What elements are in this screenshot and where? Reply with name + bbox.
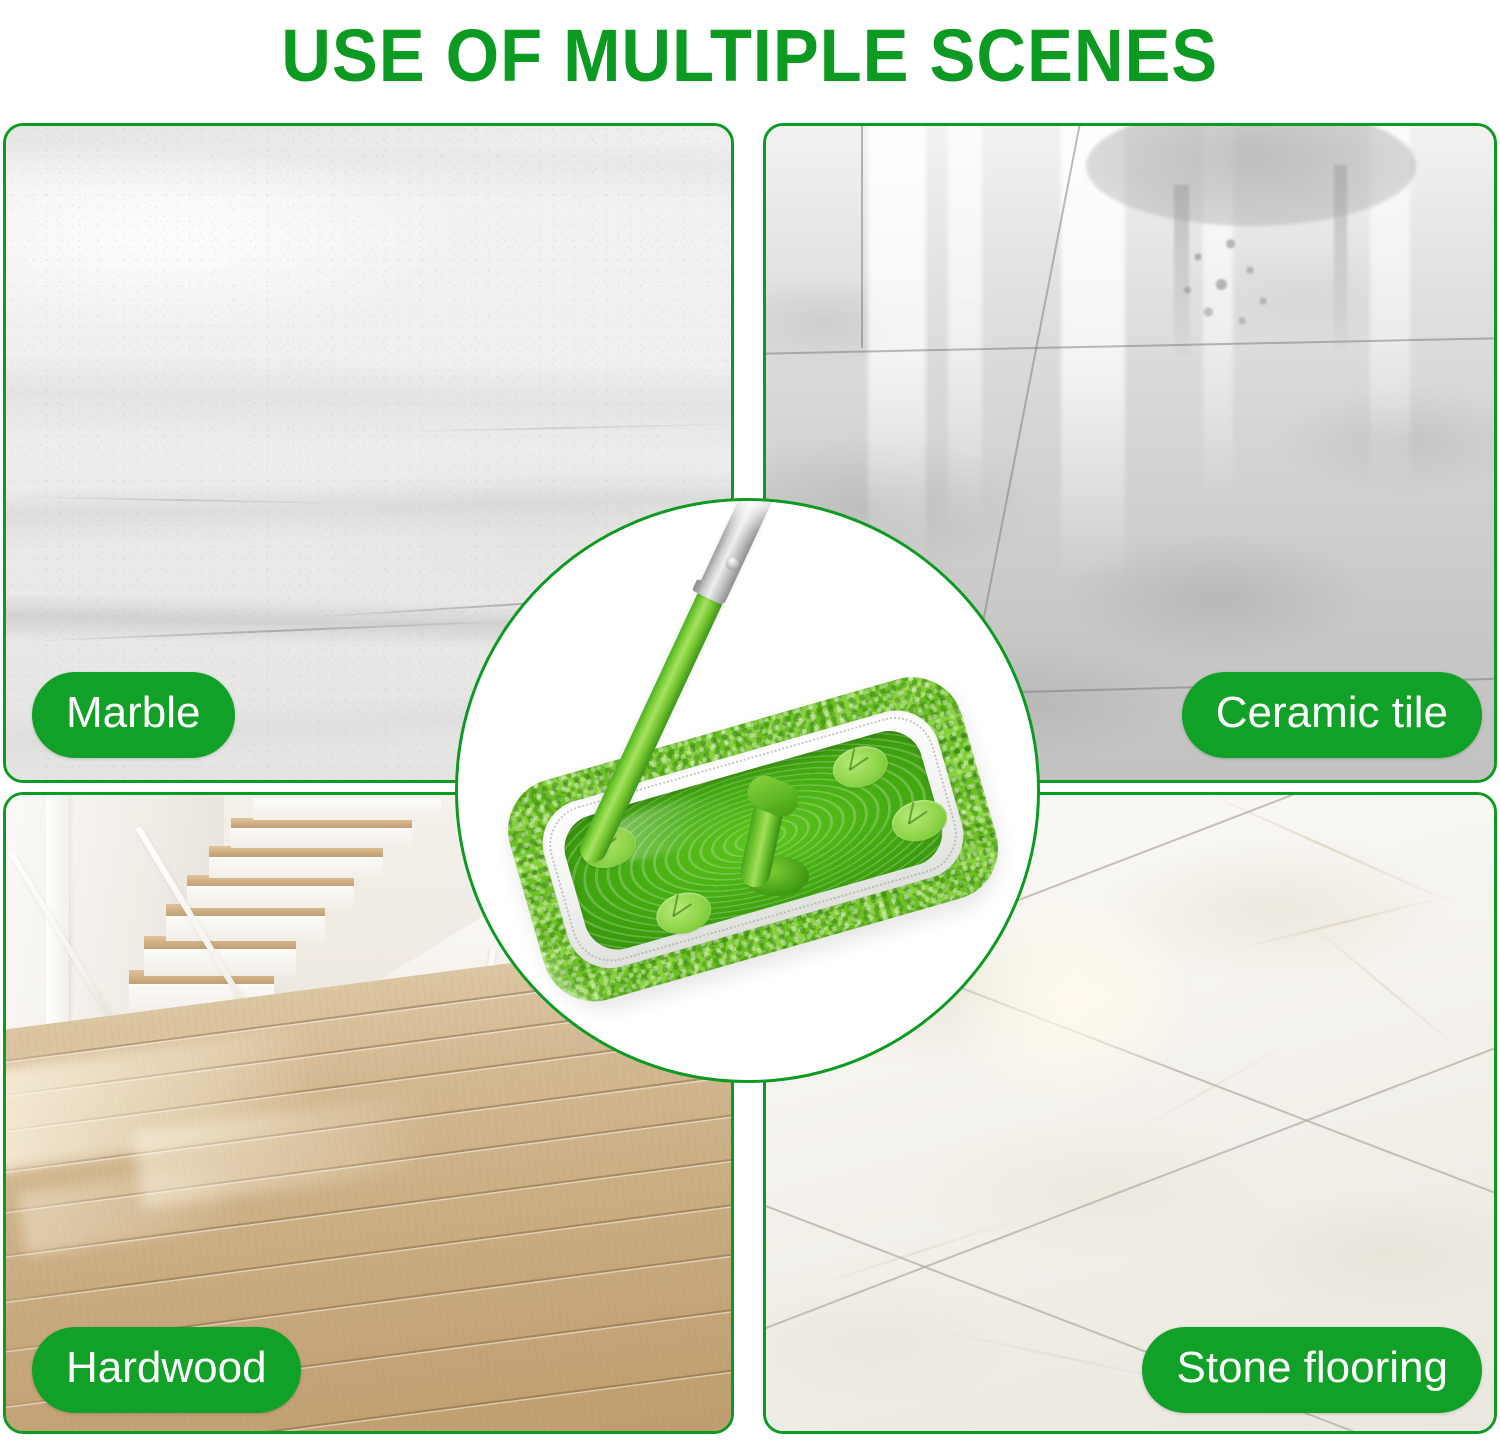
scene-label-stone-flooring: Stone flooring <box>1142 1327 1482 1413</box>
grout-line <box>861 126 863 348</box>
scene-label-ceramic-tile: Ceramic tile <box>1182 672 1482 758</box>
marble-vein <box>6 495 354 503</box>
product-image <box>458 501 1037 1080</box>
stair-riser <box>253 798 442 821</box>
scene-label-hardwood: Hardwood <box>32 1327 301 1413</box>
promo-poster: USE OF MULTIPLE SCENES Marble <box>0 0 1500 1446</box>
marble-vein <box>21 619 528 642</box>
door-frame <box>46 795 69 1024</box>
scene-label-marble: Marble <box>32 672 235 758</box>
table-leg-reflection <box>1334 165 1347 348</box>
plant-reflection <box>1159 224 1289 334</box>
marble-vein <box>383 423 731 433</box>
page-title-bar: USE OF MULTIPLE SCENES <box>0 0 1500 112</box>
handle-telescoping-pole <box>695 498 781 606</box>
window-reflection <box>948 126 982 531</box>
page-title: USE OF MULTIPLE SCENES <box>282 19 1219 93</box>
product-hero-circle[interactable] <box>455 498 1040 1083</box>
